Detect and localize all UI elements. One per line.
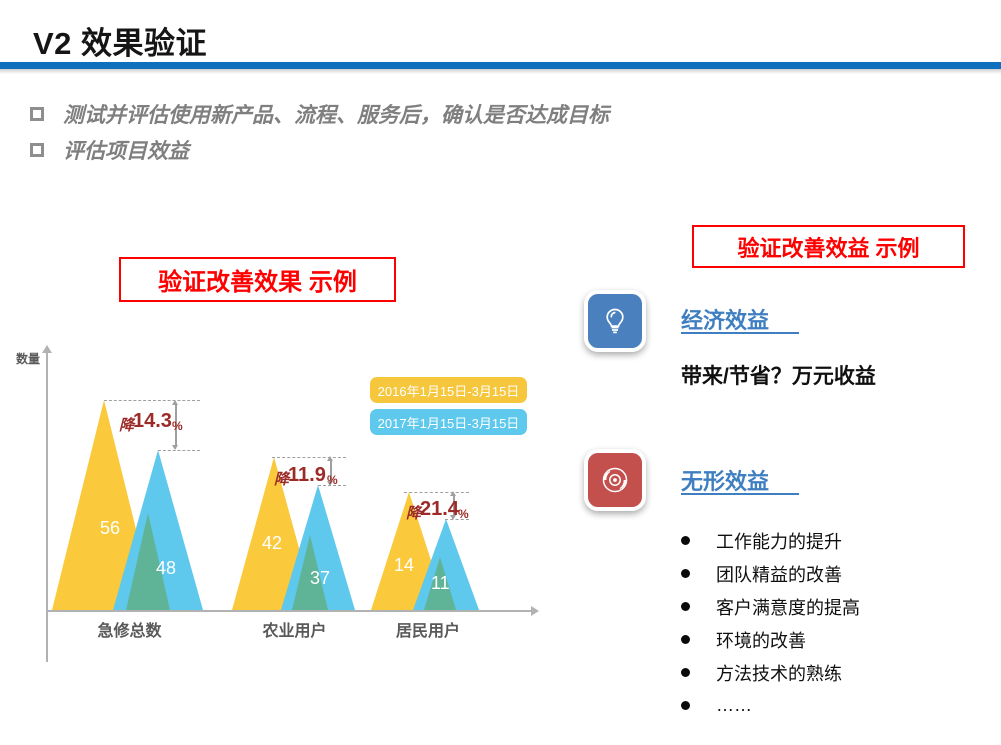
drop-prefix: 降 [119,414,134,435]
list-item-label: 工作能力的提升 [716,528,842,554]
drop-unit: % [172,419,183,433]
bar-value: 14 [394,555,414,576]
list-item: 客户满意度的提高 [681,590,981,623]
bar-value: 48 [156,558,176,579]
list-item-label: 团队精益的改善 [716,561,842,587]
title-divider-shadow [0,69,1001,74]
list-item: 团队精益的改善 [681,557,981,590]
drop-dash-line [272,457,346,458]
bullet-dot-icon [681,569,690,578]
benefit-economic-detail: 带来/节省？万元收益 [681,360,876,390]
bullet-dot-icon [681,635,690,644]
list-item: …… [681,689,981,722]
bullet-dot-icon [681,701,690,710]
y-axis-arrow-icon [42,345,52,353]
drop-unit: % [458,507,469,521]
drop-arrow-up-icon [172,400,178,405]
list-item: 评估项目效益 [30,132,930,168]
bar-value: 56 [100,518,120,539]
intro-bullet-list: 测试并评估使用新产品、流程、服务后，确认是否达成目标 评估项目效益 [30,96,930,168]
intro-bullet-text: 测试并评估使用新产品、流程、服务后，确认是否达成目标 [63,99,609,129]
drop-dash-line [158,450,200,451]
bullet-dot-icon [681,536,690,545]
list-item: 测试并评估使用新产品、流程、服务后，确认是否达成目标 [30,96,930,132]
list-item: 环境的改善 [681,623,981,656]
benefit-caption-box: 验证改善效益 示例 [692,225,965,268]
drop-dash-line [104,400,200,401]
chart-category-label: 居民用户 [358,617,498,641]
chart-y-axis-label: 数量 [16,350,40,367]
drop-unit: % [327,473,338,487]
chart-category-label: 急修总数 [42,617,217,641]
bar-value: 42 [262,533,282,554]
title-divider-bar [0,62,1001,69]
lightbulb-icon [584,290,646,352]
drop-dash-line [404,492,469,493]
benefit-heading-economic: 经济效益 [681,303,769,335]
list-item: 工作能力的提升 [681,524,981,557]
intangible-benefit-list: 工作能力的提升 团队精益的改善 客户满意度的提高 环境的改善 方法技术的熟练 …… [681,524,981,722]
bullet-dot-icon [681,602,690,611]
drop-value: 21.4 [420,498,459,521]
chart-category-label: 农业用户 [222,617,367,641]
intro-bullet-text: 评估项目效益 [63,135,189,165]
heading-underline [681,332,799,334]
drop-prefix: 降 [406,502,421,523]
legend-item-2017[interactable]: 2017年1月15日-3月15日 [370,409,527,435]
page-title: V2 效果验证 [33,18,207,63]
chart-caption-box: 验证改善效果 示例 [119,257,396,302]
list-item: 方法技术的熟练 [681,656,981,689]
benefit-heading-intangible: 无形效益 [681,464,769,496]
drop-value: 14.3 [133,410,172,433]
x-axis-arrow-icon [531,606,539,616]
legend-item-2016[interactable]: 2016年1月15日-3月15日 [370,377,527,403]
list-item-label: 方法技术的熟练 [716,660,842,686]
bullet-dot-icon [681,668,690,677]
drop-arrow-down-icon [172,445,178,450]
list-item-label: 环境的改善 [716,627,806,653]
drop-arrow-up-icon [327,456,333,461]
bar-value: 37 [310,568,330,589]
bar-value: 11 [431,573,450,594]
list-item-label: …… [716,695,752,716]
chart-x-axis [46,610,534,612]
drop-arrow-up-icon [450,491,456,496]
list-item-label: 客户满意度的提高 [716,594,860,620]
heading-underline [681,493,799,495]
square-bullet-icon [30,143,44,157]
chart-y-axis [46,352,48,662]
disc-icon [584,449,646,511]
drop-prefix: 降 [274,468,289,489]
drop-value: 11.9 [288,464,326,487]
square-bullet-icon [30,107,44,121]
